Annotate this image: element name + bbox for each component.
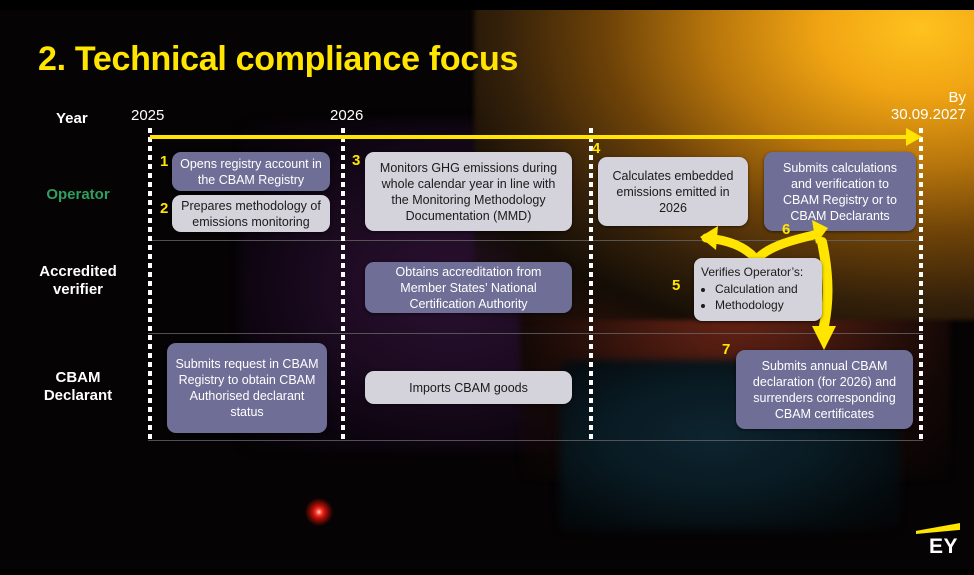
divider-2026 <box>341 128 345 440</box>
row-label-operator: Operator <box>8 186 148 204</box>
row-label-accredited-verifier: Accredited verifier <box>8 263 148 299</box>
divider-end <box>919 128 923 440</box>
box-verifies-operator[interactable]: Verifies Operator’s: Calculation and Met… <box>694 258 822 321</box>
box-submits-calculations[interactable]: Submits calculations and verification to… <box>764 152 916 231</box>
step-number-2: 2 <box>160 200 168 217</box>
box-calculates-embedded-emissions[interactable]: Calculates embedded emissions emitted in… <box>598 157 748 226</box>
box-monitors-ghg-emissions[interactable]: Monitors GHG emissions during whole cale… <box>365 152 572 231</box>
box-obtains-accreditation[interactable]: Obtains accreditation from Member States… <box>365 262 572 313</box>
row-separator-1 <box>148 240 923 241</box>
axis-tick-2025: 2025 <box>131 107 164 124</box>
box-prepares-methodology[interactable]: Prepares methodology of emissions monito… <box>172 195 330 232</box>
divider-mid <box>589 128 593 440</box>
step-number-7: 7 <box>722 341 730 358</box>
verifies-title: Verifies Operator’s: <box>701 264 815 280</box>
letterbox-bottom <box>0 569 974 575</box>
slide-canvas: 2. Technical compliance focus Year 2025 … <box>0 0 974 575</box>
axis-end-label-line2: 30.09.2027 <box>891 107 966 124</box>
step-number-1: 1 <box>160 153 168 170</box>
ey-logo-text: EY <box>929 535 958 559</box>
divider-2025 <box>148 128 152 440</box>
axis-label-year: Year <box>56 110 88 127</box>
row-label-line1: CBAM <box>8 369 148 387</box>
ey-beam-icon <box>916 523 960 534</box>
step-number-5: 5 <box>672 277 680 294</box>
axis-end-label: By 30.09.2027 <box>891 90 966 124</box>
timeline-arrowhead-icon <box>906 128 922 146</box>
verifies-bullet-list: Calculation and Methodology <box>701 281 815 313</box>
row-separator-3 <box>148 440 923 441</box>
letterbox-top <box>0 0 974 10</box>
laser-pointer-dot <box>305 498 333 526</box>
page-title: 2. Technical compliance focus <box>38 40 518 79</box>
axis-end-label-line1: By <box>891 90 966 107</box>
row-label-line1: Accredited <box>8 263 148 281</box>
verifies-bullet-item: Calculation and <box>715 281 815 297</box>
row-label-line2: Declarant <box>8 387 148 405</box>
step-number-6: 6 <box>782 221 790 238</box>
arrow-7-path <box>822 242 828 326</box>
row-separator-2 <box>148 333 923 334</box>
timeline-bar <box>150 135 910 139</box>
arrow-5-head-icon <box>700 226 718 250</box>
arrow-5-path <box>706 238 755 258</box>
row-label-line2: verifier <box>8 281 148 299</box>
verifies-bullet-item: Methodology <box>715 297 815 313</box>
row-label-cbam-declarant: CBAM Declarant <box>8 369 148 405</box>
step-number-3: 3 <box>352 152 360 169</box>
arrow-7-head-icon <box>812 326 836 350</box>
box-submits-request-registry[interactable]: Submits request in CBAM Registry to obta… <box>167 343 327 433</box>
box-submits-annual-declaration[interactable]: Submits annual CBAM declaration (for 202… <box>736 350 913 429</box>
step-number-4: 4 <box>592 140 600 157</box>
box-opens-registry-account[interactable]: Opens registry account in the CBAM Regis… <box>172 152 330 191</box>
box-imports-cbam-goods[interactable]: Imports CBAM goods <box>365 371 572 404</box>
ey-logo: EY <box>902 521 960 561</box>
axis-tick-2026: 2026 <box>330 107 363 124</box>
